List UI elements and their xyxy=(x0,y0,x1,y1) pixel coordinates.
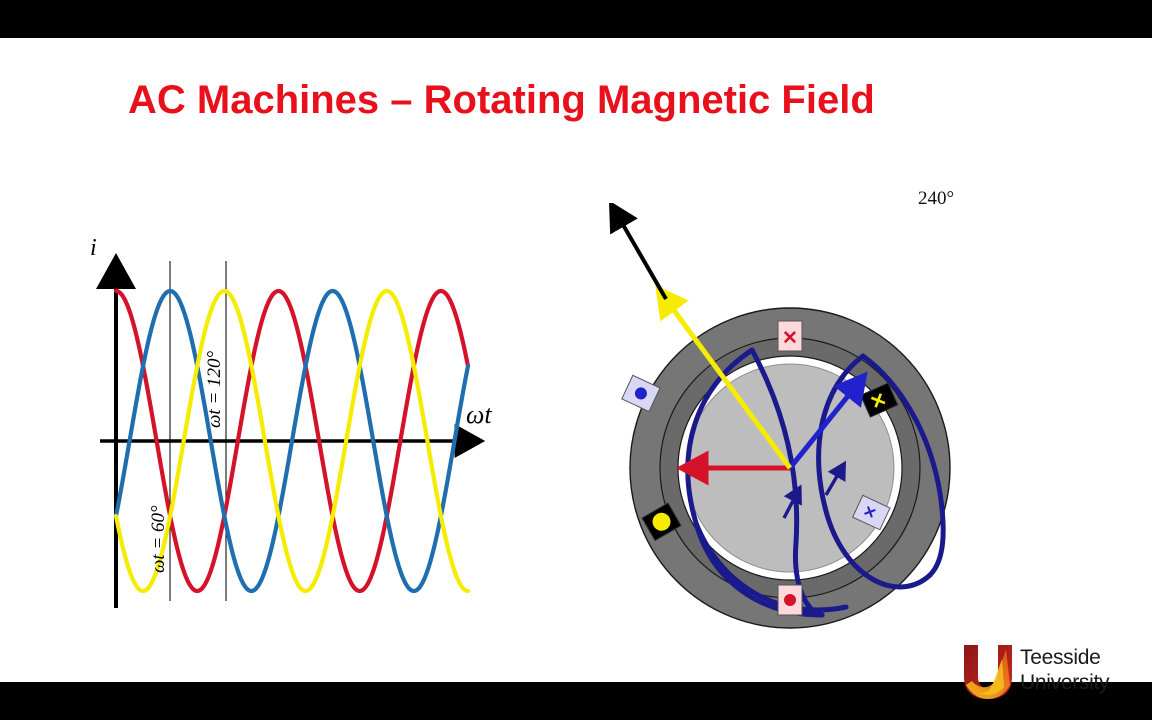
x-axis-label: ωt xyxy=(466,400,492,429)
waveform-svg: i ωt ωt = 60° ωt = 120° xyxy=(70,223,500,623)
logo-mark xyxy=(958,641,1018,703)
slide-stage: AC Machines – Rotating Magnetic Field 24… xyxy=(0,0,1152,720)
slot-top: ✕ xyxy=(778,321,802,351)
logo-line2: University xyxy=(1020,670,1109,695)
slot-top-symbol: ✕ xyxy=(782,328,798,349)
page-title: AC Machines – Rotating Magnetic Field xyxy=(128,78,1028,123)
resultant-field-vector xyxy=(622,223,666,299)
logo-line1: Teesside xyxy=(1020,645,1109,670)
letterbox-top xyxy=(0,0,1152,38)
annotation-wt-120: ωt = 120° xyxy=(204,350,225,428)
annotation-wt-60: ωt = 60° xyxy=(148,505,169,573)
logo-wordmark: Teesside University xyxy=(1020,645,1109,695)
three-phase-waveform-chart: i ωt ωt = 60° ωt = 120° xyxy=(70,223,500,623)
slot-bottom-symbol xyxy=(784,594,796,606)
slide-canvas: AC Machines – Rotating Magnetic Field 24… xyxy=(0,38,1152,682)
slot-bottom xyxy=(778,585,802,615)
y-axis-label: i xyxy=(90,235,97,261)
motor-svg: ✕ ✕ ✕ xyxy=(600,203,1020,643)
stator-cross-section-diagram: ✕ ✕ ✕ xyxy=(600,203,1020,643)
teesside-university-logo: Teesside University xyxy=(958,641,1136,703)
